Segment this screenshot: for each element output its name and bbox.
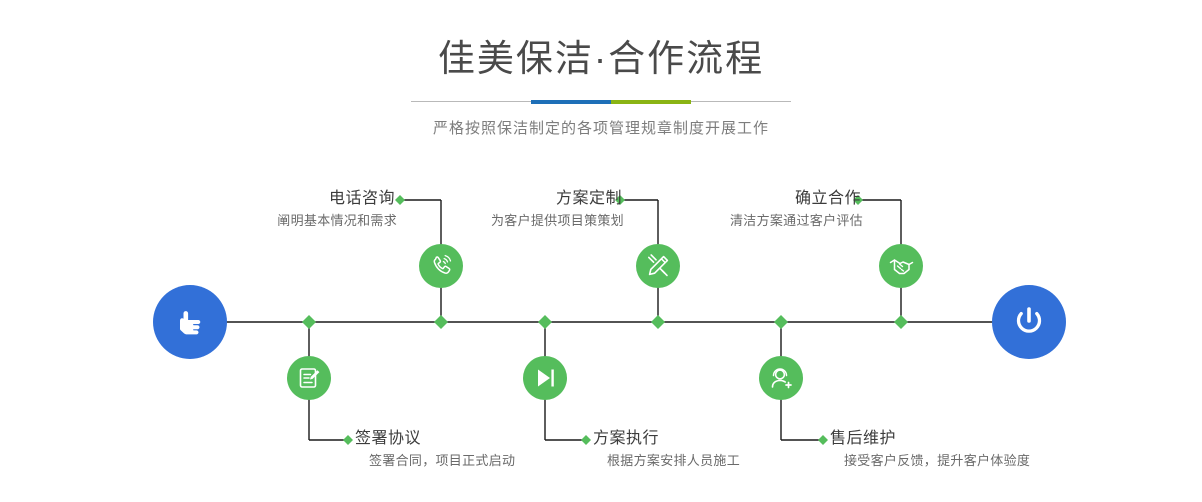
pointing-hand-icon xyxy=(170,302,210,342)
label-diamond-step-6 xyxy=(818,435,828,445)
node-step-4[interactable] xyxy=(523,356,567,400)
label-step-1: 电话咨询 阐明基本情况和需求 xyxy=(277,189,397,230)
label-step-5-title: 确立合作 xyxy=(730,189,863,209)
flow-connectors xyxy=(0,0,1202,502)
label-diamond-step-4 xyxy=(581,435,591,445)
label-step-3: 方案定制 为客户提供项目策策划 xyxy=(491,189,624,230)
label-step-2-title: 签署协议 xyxy=(355,429,515,449)
label-step-2: 签署协议 签署合同，项目正式启动 xyxy=(355,429,515,470)
phone-call-icon xyxy=(428,253,454,279)
label-step-4: 方案执行 根据方案安排人员施工 xyxy=(593,429,740,470)
flow-end-endpoint[interactable] xyxy=(992,285,1066,359)
label-step-2-desc: 签署合同，项目正式启动 xyxy=(355,449,515,470)
play-skip-icon xyxy=(532,365,558,391)
node-step-5[interactable] xyxy=(879,244,923,288)
node-step-3[interactable] xyxy=(636,244,680,288)
label-step-3-desc: 为客户提供项目策策划 xyxy=(491,209,624,230)
cooperation-process-infographic: 佳美保洁·合作流程 严格按照保洁制定的各项管理规章制度开展工作 xyxy=(0,0,1202,502)
label-diamond-step-2 xyxy=(343,435,353,445)
power-icon xyxy=(1008,301,1050,343)
handshake-icon xyxy=(888,253,915,280)
label-step-5-desc: 清洁方案通过客户评估 xyxy=(730,209,863,230)
label-step-3-title: 方案定制 xyxy=(491,189,624,209)
document-edit-icon xyxy=(296,365,322,391)
process-flow: 电话咨询 阐明基本情况和需求 签署协议 签署合同，项目正式启动 xyxy=(0,0,1202,502)
label-step-5: 确立合作 清洁方案通过客户评估 xyxy=(730,189,863,230)
node-step-1[interactable] xyxy=(419,244,463,288)
customer-support-icon xyxy=(768,365,795,392)
flow-start-endpoint[interactable] xyxy=(153,285,227,359)
label-step-1-desc: 阐明基本情况和需求 xyxy=(277,209,397,230)
timeline-diamond-2 xyxy=(434,315,448,329)
label-step-6-desc: 接受客户反馈，提升客户体验度 xyxy=(830,449,1030,470)
node-step-6[interactable] xyxy=(759,356,803,400)
label-step-6: 售后维护 接受客户反馈，提升客户体验度 xyxy=(830,429,1030,470)
label-step-1-title: 电话咨询 xyxy=(277,189,397,209)
label-step-4-desc: 根据方案安排人员施工 xyxy=(593,449,740,470)
timeline-diamond-1 xyxy=(302,315,316,329)
node-step-2[interactable] xyxy=(287,356,331,400)
pencil-ruler-icon xyxy=(645,253,671,279)
label-step-4-title: 方案执行 xyxy=(593,429,740,449)
timeline-diamond-3 xyxy=(538,315,552,329)
timeline-diamond-6 xyxy=(894,315,908,329)
label-step-6-title: 售后维护 xyxy=(830,429,1030,449)
timeline-diamond-5 xyxy=(774,315,788,329)
timeline-diamond-4 xyxy=(651,315,665,329)
